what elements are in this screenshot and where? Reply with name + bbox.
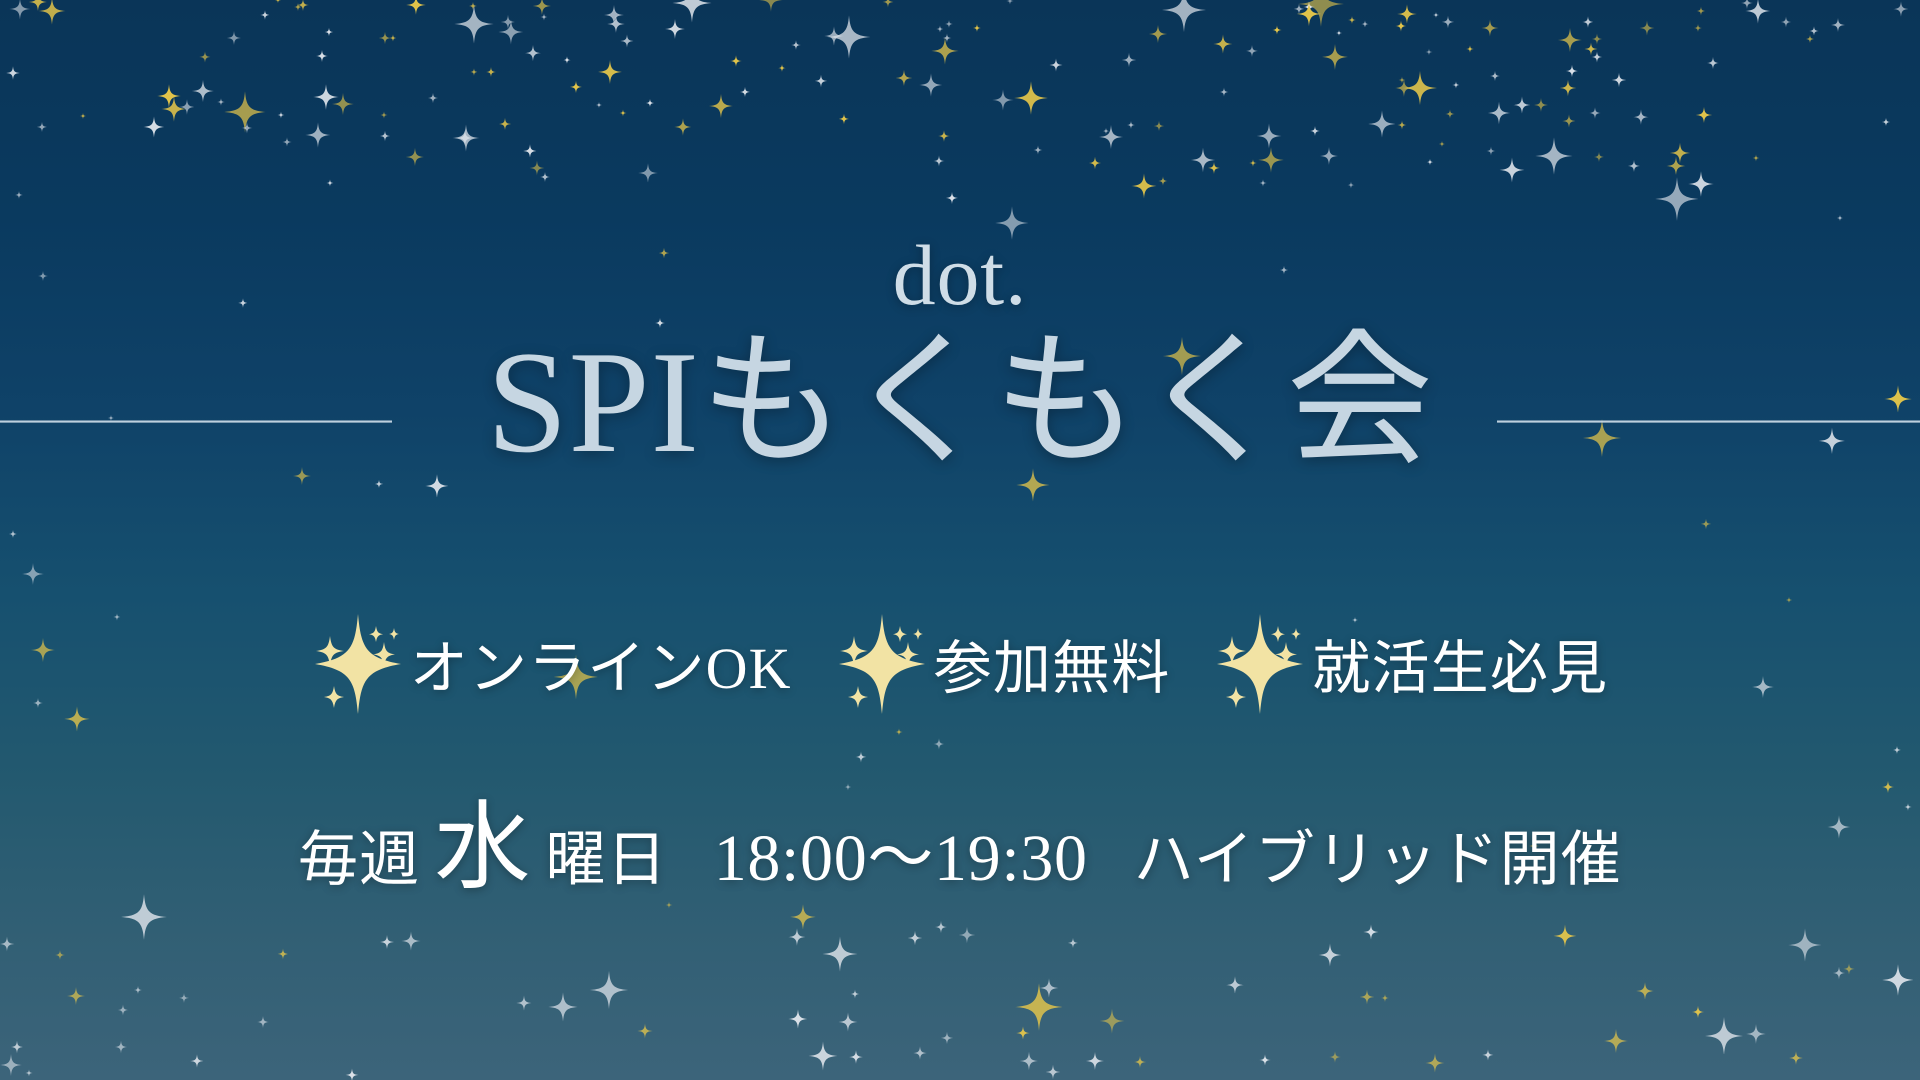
sparkle-icon xyxy=(1639,21,1654,36)
sparkle-icon xyxy=(1260,1054,1272,1066)
sparkle-icon xyxy=(117,1004,128,1015)
sparkle-icon xyxy=(946,192,958,204)
sparkle-icon xyxy=(1399,76,1406,83)
sparkle-icon xyxy=(227,31,241,45)
sparkle-icon xyxy=(1294,4,1305,15)
sparkle-icon xyxy=(1591,34,1602,45)
sparkle-icon xyxy=(9,0,30,19)
sparkle-icon xyxy=(596,101,602,107)
sparkle-icon xyxy=(316,50,328,62)
sparkle-icon xyxy=(346,1069,359,1080)
sparkle-icon xyxy=(896,69,913,86)
sparkle-icon xyxy=(563,56,571,64)
poster-canvas: dot. SPIもくもく会 オンラインOK xyxy=(0,0,1920,1080)
sparkle-icon xyxy=(457,130,473,146)
sparkle-icon xyxy=(1162,0,1206,32)
sparkle-icon xyxy=(80,113,86,119)
badge-label: 参加無料 xyxy=(934,640,1171,698)
sparkle-icon xyxy=(331,93,353,115)
sparkle-icon xyxy=(935,920,947,932)
sparkle-icon xyxy=(1397,120,1406,129)
sparkle-icon xyxy=(844,783,851,790)
sparkle-icon xyxy=(1033,146,1042,155)
sparkle-icon xyxy=(533,0,551,15)
sparkle-icon xyxy=(1309,126,1319,136)
sparkle-icon xyxy=(277,949,288,960)
sparkle-icon xyxy=(500,15,515,30)
sparkle-icon xyxy=(1016,1026,1030,1040)
sparkle-icon xyxy=(1781,16,1792,27)
sparkle-icon xyxy=(1122,53,1136,67)
sparkle-icon xyxy=(134,986,142,994)
sparkle-icon xyxy=(849,1051,863,1065)
schedule-time: 18:00〜19:30 xyxy=(714,826,1088,892)
sparkle-icon xyxy=(1806,35,1814,43)
sparkle-icon xyxy=(275,0,281,4)
sparkle-icon xyxy=(22,563,44,585)
sparkle-icon xyxy=(381,112,388,119)
sparkle-icon xyxy=(1208,162,1220,174)
sparkle-icon xyxy=(779,64,787,72)
sparkle-icon xyxy=(1336,30,1342,36)
sparkle-icon xyxy=(257,1016,269,1028)
sparkle-icon xyxy=(1395,79,1413,97)
sparkle-icon xyxy=(1603,1028,1627,1052)
sparkle-icon xyxy=(604,5,624,25)
sparkle-icon xyxy=(1562,114,1576,128)
sparkle-icon xyxy=(161,96,187,122)
schedule-row: 毎週 水 曜日 18:00〜19:30 ハイブリッド開催 xyxy=(0,800,1920,896)
sparkle-icon xyxy=(278,112,285,119)
sparkle-icon xyxy=(1560,80,1577,97)
sparkle-icon xyxy=(931,38,958,65)
sparkle-icon xyxy=(1348,181,1355,188)
sparkle-icon xyxy=(1746,1024,1766,1044)
sparkle-icon xyxy=(217,98,225,106)
sparkle-icon xyxy=(114,1041,127,1054)
sparkle-icon xyxy=(1226,976,1244,994)
sparkle-icon xyxy=(1637,982,1655,1000)
sparkle-icon xyxy=(1882,117,1891,126)
sparkle-icon xyxy=(1833,967,1846,980)
sparkle-icon xyxy=(993,89,1014,110)
sparkle-icon xyxy=(1273,25,1282,34)
sparkle-icon xyxy=(37,122,47,132)
page-title: SPIもくもく会 xyxy=(0,322,1920,483)
sparkle-icon xyxy=(1134,1056,1146,1068)
sparkle-icon xyxy=(945,20,953,28)
sparkle-icon xyxy=(1488,102,1511,125)
sparkle-icon xyxy=(1692,1006,1705,1019)
sparkle-icon xyxy=(822,936,857,971)
sparkle-icon xyxy=(379,32,392,45)
sparkle-icon xyxy=(1882,780,1895,793)
sparkle-icon xyxy=(672,0,711,22)
sparkle-icon xyxy=(1697,7,1706,16)
sparkle-icon xyxy=(637,1024,652,1039)
sparkle-icon xyxy=(1694,24,1702,32)
sparkle-icon xyxy=(540,13,547,20)
sparkle-icon xyxy=(327,180,334,187)
sparkle-icon xyxy=(1427,158,1434,165)
sparkle-icon xyxy=(824,26,843,45)
sparkle-icon xyxy=(1397,4,1417,24)
sparkle-icon xyxy=(1831,18,1845,32)
sparkle-icon xyxy=(936,25,944,33)
sparkle-icon xyxy=(1745,0,1770,24)
sparkle-icon xyxy=(1256,123,1281,148)
sparkle-icon xyxy=(1318,943,1341,966)
sparkle-icon xyxy=(1360,990,1375,1005)
sparkle-icon xyxy=(1553,925,1576,948)
sparkle-icon xyxy=(523,144,537,158)
sparkle-icon xyxy=(1442,16,1455,29)
sparkle-icon xyxy=(908,931,923,946)
sparkle-icon xyxy=(1361,20,1369,28)
schedule-day: 水 xyxy=(434,800,531,896)
sparkle-icon xyxy=(402,931,421,950)
schedule-day-suffix: 曜日 xyxy=(545,830,667,890)
sparkle-icon xyxy=(1513,96,1530,113)
sparkle-icon xyxy=(709,93,733,117)
sparkle-icon xyxy=(1445,109,1454,118)
sparkle-icon xyxy=(1213,34,1232,53)
sparkle-icon xyxy=(1452,81,1459,88)
sparkle-icon xyxy=(1438,140,1445,147)
brand-name: dot. xyxy=(0,232,1920,318)
sparkle-icon xyxy=(179,99,195,115)
sparkle-icon xyxy=(760,0,783,12)
sparkle-icon xyxy=(1297,2,1322,27)
sparkle-icon xyxy=(28,0,47,11)
sparkle-icon xyxy=(620,35,633,48)
sparkle-icon xyxy=(646,99,655,108)
sparkle-icon xyxy=(1688,171,1714,197)
sparkle-icon xyxy=(407,0,427,15)
sparkle-icon xyxy=(1425,49,1432,56)
sparkle-icon xyxy=(380,935,394,949)
sparkle-icon xyxy=(1086,1052,1104,1070)
sparkle-icon xyxy=(0,936,14,951)
sparkle-icon xyxy=(1843,963,1854,974)
sparkle-icon xyxy=(428,93,439,104)
sparkle-icon xyxy=(453,125,480,152)
sparkle-icon xyxy=(1633,110,1649,126)
sparkle-icon xyxy=(199,51,210,62)
badge-label: 就活生必見 xyxy=(1312,640,1608,698)
sparkle-icon xyxy=(469,2,477,10)
sparkle-icon xyxy=(525,45,541,61)
sparkle-icon xyxy=(1612,73,1627,88)
sparkle-icon xyxy=(324,27,333,36)
sparkle-icon xyxy=(294,3,302,11)
sparkle-icon xyxy=(312,612,404,726)
sparkle-icon xyxy=(730,55,742,67)
sparkle-icon xyxy=(455,4,494,43)
sparkle-icon xyxy=(942,33,951,42)
sparkle-icon xyxy=(1584,42,1597,55)
sparkle-icon xyxy=(1893,745,1901,753)
sparkle-icon xyxy=(1628,159,1640,171)
sparkle-icon xyxy=(638,163,658,183)
sparkle-icon xyxy=(122,894,168,940)
sparkle-icon xyxy=(919,73,943,97)
sparkle-icon xyxy=(1558,28,1582,52)
sparkle-icon xyxy=(499,118,512,131)
sparkle-icon xyxy=(836,612,928,726)
sparkle-icon xyxy=(260,11,270,21)
sparkle-icon xyxy=(1566,65,1579,78)
badge-label: オンラインOK xyxy=(410,640,792,698)
sparkle-icon xyxy=(516,996,531,1011)
sparkle-icon xyxy=(297,0,309,11)
sparkle-icon xyxy=(1425,1053,1444,1072)
sparkle-icon xyxy=(313,84,339,110)
sparkle-icon xyxy=(405,148,424,167)
sparkle-icon xyxy=(1594,152,1604,162)
sparkle-icon xyxy=(1591,51,1602,62)
sparkle-icon xyxy=(1348,16,1356,24)
sparkle-icon xyxy=(1154,120,1165,131)
sparkle-icon xyxy=(1320,147,1338,165)
sparkle-icon xyxy=(0,1054,22,1076)
sparkle-icon xyxy=(1381,994,1389,1002)
sparkle-icon xyxy=(739,87,749,97)
sparkle-icon xyxy=(1836,215,1843,222)
sparkle-icon xyxy=(1019,1052,1038,1071)
sparkle-icon xyxy=(851,990,860,999)
sparkle-icon xyxy=(938,131,950,143)
sparkle-icon xyxy=(1696,106,1713,123)
sparkle-icon xyxy=(1882,964,1914,996)
sparkle-icon xyxy=(1049,59,1062,72)
sparkle-icon xyxy=(856,751,867,762)
sparkle-icon xyxy=(1535,138,1572,175)
sparkle-icon xyxy=(530,160,545,175)
sparkle-icon xyxy=(896,729,903,736)
headline-block: dot. SPIもくもく会 xyxy=(0,232,1920,483)
sparkle-icon xyxy=(1490,71,1500,81)
sparkle-icon xyxy=(590,970,628,1008)
sparkle-icon xyxy=(1246,45,1258,57)
sparkle-icon xyxy=(190,1054,204,1068)
sparkle-icon xyxy=(1701,519,1712,530)
sparkle-icon xyxy=(1149,24,1167,42)
sparkle-icon xyxy=(1067,938,1077,948)
sparkle-icon xyxy=(1705,1017,1743,1055)
sparkle-icon xyxy=(941,1032,953,1044)
sparkle-icon xyxy=(959,927,976,944)
sparkle-icon xyxy=(1667,156,1686,175)
sparkle-icon xyxy=(665,19,685,39)
sparkle-icon xyxy=(1500,158,1525,183)
sparkle-icon xyxy=(39,0,66,25)
sparkle-icon xyxy=(1753,154,1760,161)
sparkle-icon xyxy=(225,91,266,132)
sparkle-icon xyxy=(1046,1065,1061,1080)
sparkle-icon xyxy=(241,122,252,133)
sparkle-icon xyxy=(827,15,870,58)
sparkle-icon xyxy=(1670,143,1691,164)
sparkle-icon xyxy=(1131,173,1156,198)
sparkle-icon xyxy=(607,15,625,33)
sparkle-icon xyxy=(10,1041,23,1054)
badge-row: オンラインOK 参加無料 xyxy=(0,612,1920,726)
sparkle-icon xyxy=(933,738,945,750)
sparkle-icon xyxy=(1789,1052,1803,1066)
sparkle-icon xyxy=(1158,176,1168,186)
sparkle-icon xyxy=(1741,0,1753,9)
sparkle-icon xyxy=(838,114,849,125)
sparkle-icon xyxy=(1786,596,1793,603)
sparkle-icon xyxy=(1322,44,1348,70)
sparkle-icon xyxy=(1089,157,1102,170)
sparkle-icon xyxy=(1214,612,1306,726)
sparkle-icon xyxy=(540,172,550,182)
sparkle-icon xyxy=(26,1069,33,1076)
sparkle-icon xyxy=(674,118,691,135)
badge-jobhunters: 就活生必見 xyxy=(1214,612,1608,726)
sparkle-icon xyxy=(1006,0,1014,5)
sparkle-icon xyxy=(598,60,622,84)
sparkle-icon xyxy=(1249,159,1257,167)
sparkle-icon xyxy=(498,19,523,44)
sparkle-icon xyxy=(913,1046,927,1060)
sparkle-icon xyxy=(1655,177,1699,221)
sparkle-icon xyxy=(1534,98,1548,112)
sparkle-icon xyxy=(1259,180,1267,188)
sparkle-icon xyxy=(157,84,181,108)
sparkle-icon xyxy=(815,75,828,88)
sparkle-icon xyxy=(282,137,292,147)
sparkle-icon xyxy=(67,987,85,1005)
schedule-format: ハイブリッド開催 xyxy=(1134,830,1622,890)
sparkle-icon xyxy=(882,0,893,7)
sparkle-icon xyxy=(1893,1,1909,17)
sparkle-icon xyxy=(305,123,330,148)
sparkle-icon xyxy=(1433,12,1439,18)
sparkle-icon xyxy=(1395,21,1406,32)
sparkle-icon xyxy=(1368,110,1395,137)
badge-online: オンラインOK xyxy=(312,612,792,726)
sparkle-icon xyxy=(569,81,581,93)
sparkle-icon xyxy=(788,1009,807,1028)
sparkle-icon xyxy=(1100,1009,1125,1034)
sparkle-icon xyxy=(1103,127,1110,134)
sparkle-icon xyxy=(1303,1,1315,13)
sparkle-icon xyxy=(192,80,214,102)
sparkle-icon xyxy=(1220,87,1229,96)
sparkle-icon xyxy=(7,67,21,81)
sparkle-icon xyxy=(549,992,578,1021)
sparkle-icon xyxy=(1589,107,1601,119)
sparkle-icon xyxy=(1486,146,1495,155)
sparkle-icon xyxy=(1329,1051,1341,1063)
sparkle-icon xyxy=(9,530,18,539)
sparkle-icon xyxy=(179,993,189,1003)
sparkle-icon xyxy=(619,109,626,116)
sparkle-icon xyxy=(144,116,165,137)
sparkle-icon xyxy=(1298,0,1344,27)
sparkle-icon xyxy=(1809,26,1819,36)
sparkle-icon xyxy=(973,23,981,31)
sparkle-icon xyxy=(1015,81,1049,115)
sparkle-icon xyxy=(839,1012,858,1031)
sparkle-icon xyxy=(1127,121,1135,129)
sparkle-icon xyxy=(1258,147,1284,173)
sparkle-icon xyxy=(55,950,65,960)
sparkle-icon xyxy=(470,68,478,76)
sparkle-icon xyxy=(1191,148,1216,173)
sparkle-icon xyxy=(1403,71,1437,105)
sparkle-icon xyxy=(790,904,816,930)
sparkle-icon xyxy=(1466,45,1474,53)
sparkle-icon xyxy=(1707,57,1719,69)
star-field xyxy=(0,0,1920,1080)
sparkle-icon xyxy=(666,902,673,909)
sparkle-icon xyxy=(1363,924,1378,939)
schedule-frequency: 毎週 xyxy=(298,830,420,890)
sparkle-icon xyxy=(791,40,801,50)
sparkle-icon xyxy=(788,929,806,947)
sparkle-icon xyxy=(15,191,23,199)
sparkle-icon xyxy=(809,1042,838,1071)
sparkle-icon xyxy=(1482,1049,1493,1060)
sparkle-icon xyxy=(486,67,496,77)
sparkle-icon xyxy=(1099,124,1123,148)
sparkle-icon xyxy=(1039,978,1059,998)
badge-free: 参加無料 xyxy=(836,612,1171,726)
sparkle-icon xyxy=(1482,20,1499,37)
sparkle-icon xyxy=(379,131,390,142)
sparkle-icon xyxy=(389,34,397,42)
sparkle-icon xyxy=(1788,928,1821,961)
sparkle-icon xyxy=(1582,16,1594,28)
sparkle-icon xyxy=(934,156,945,167)
sparkle-icon xyxy=(1015,984,1062,1031)
